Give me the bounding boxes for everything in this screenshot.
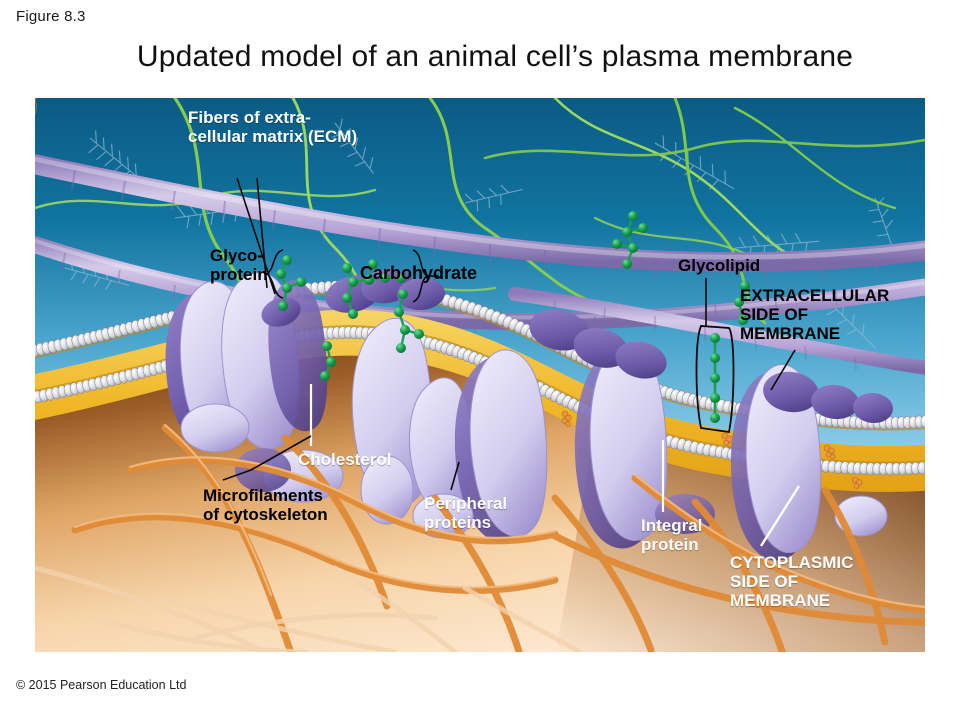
membrane-diagram: Fibers of extra- cellular matrix (ECM) G… bbox=[35, 98, 925, 652]
label-extracellular-side: EXTRACELLULAR SIDE OF MEMBRANE bbox=[740, 286, 889, 343]
slide: Figure 8.3 Updated model of an animal ce… bbox=[0, 0, 960, 720]
label-peripheral-proteins: Peripheral proteins bbox=[424, 494, 507, 532]
label-cytoplasmic-side: CYTOPLASMIC SIDE OF MEMBRANE bbox=[730, 553, 853, 610]
copyright-footer: © 2015 Pearson Education Ltd bbox=[16, 678, 186, 692]
label-carbohydrate: Carbohydrate bbox=[360, 263, 477, 283]
label-cholesterol: Cholesterol bbox=[298, 450, 392, 469]
page-title: Updated model of an animal cell’s plasma… bbox=[0, 40, 960, 74]
label-ecm: Fibers of extra- cellular matrix (ECM) bbox=[188, 108, 357, 146]
label-microfilaments: Microfilaments of cytoskeleton bbox=[203, 486, 328, 524]
label-glycoprotein: Glyco- protein bbox=[210, 246, 268, 284]
figure-number: Figure 8.3 bbox=[16, 8, 86, 25]
label-glycolipid: Glycolipid bbox=[678, 256, 760, 275]
label-integral-protein: Integral protein bbox=[641, 516, 702, 554]
